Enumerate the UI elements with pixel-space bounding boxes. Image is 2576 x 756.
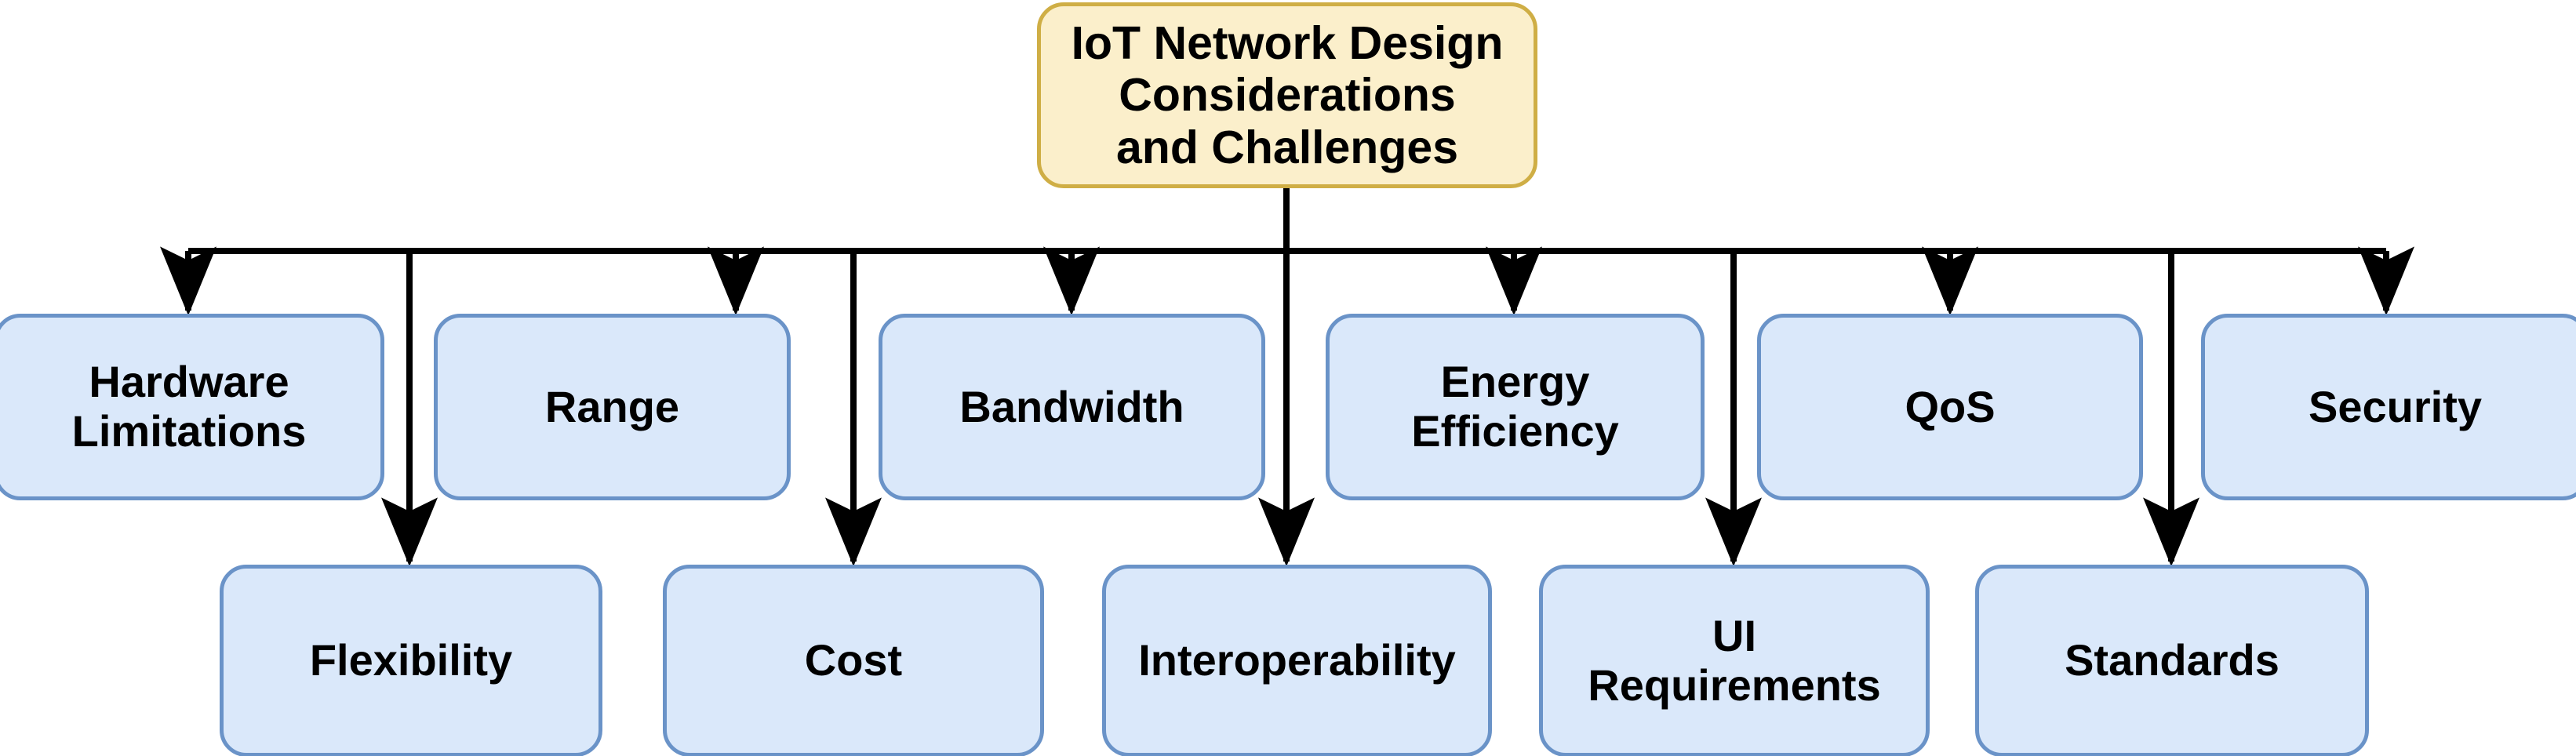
node-flexibility[interactable]: Flexibility: [220, 565, 602, 756]
node-interoperability[interactable]: Interoperability: [1102, 565, 1492, 756]
node-standards[interactable]: Standards: [1975, 565, 2369, 756]
node-ui-requirements[interactable]: UI Requirements: [1539, 565, 1930, 756]
node-hardware-limitations[interactable]: Hardware Limitations: [0, 314, 384, 500]
node-qos[interactable]: QoS: [1757, 314, 2143, 500]
node-root[interactable]: IoT Network Design Considerations and Ch…: [1037, 2, 1537, 188]
node-security[interactable]: Security: [2201, 314, 2576, 500]
diagram-canvas: IoT Network Design Considerations and Ch…: [0, 0, 2576, 756]
node-range[interactable]: Range: [434, 314, 791, 500]
node-cost[interactable]: Cost: [663, 565, 1044, 756]
node-bandwidth[interactable]: Bandwidth: [879, 314, 1265, 500]
node-energy-efficiency[interactable]: Energy Efficiency: [1326, 314, 1705, 500]
